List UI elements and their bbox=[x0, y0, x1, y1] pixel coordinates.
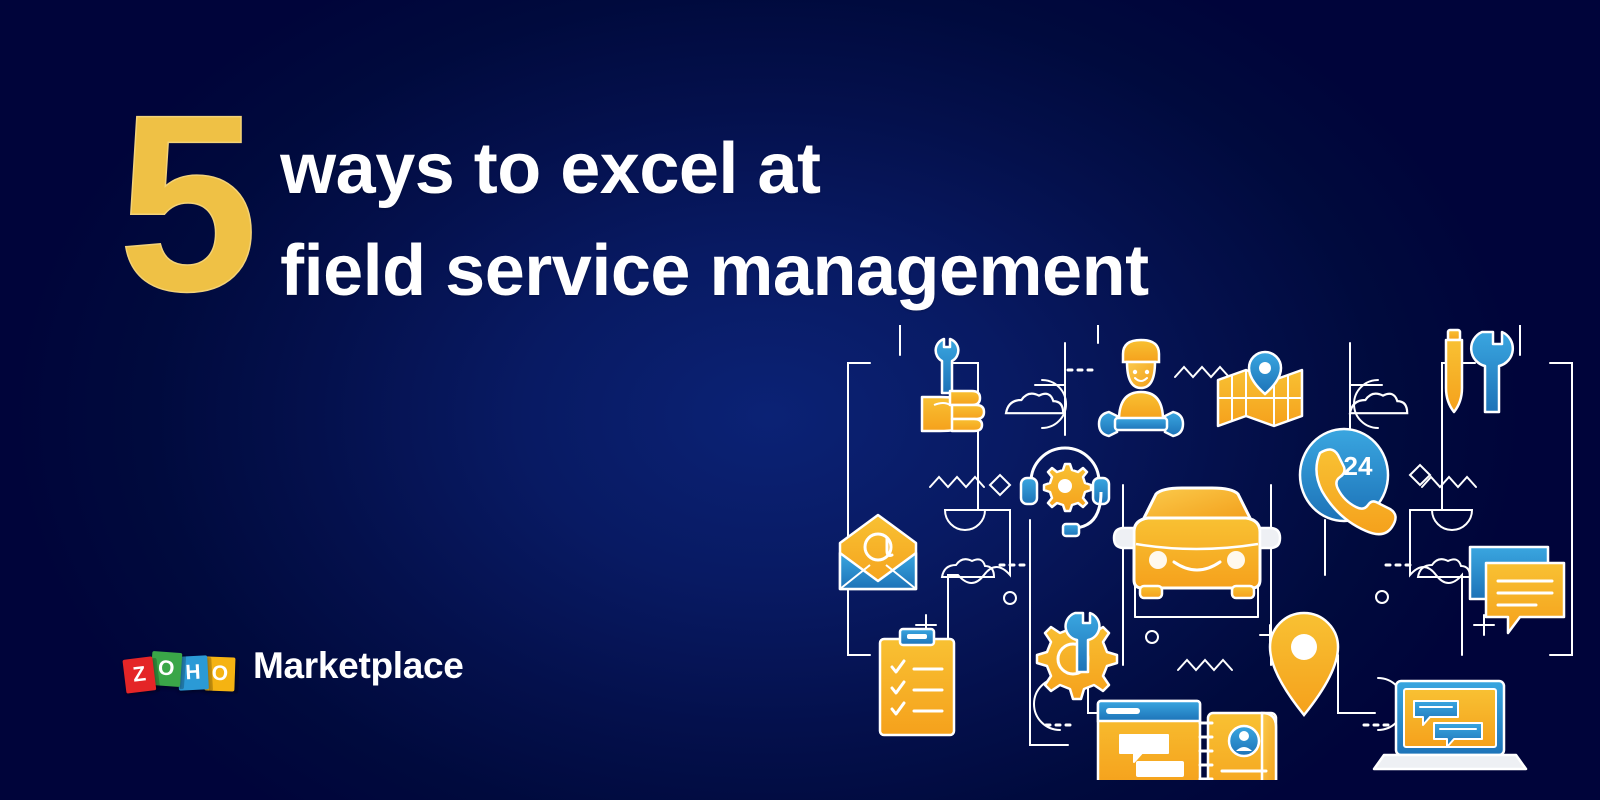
screwdriver-wrench-icon bbox=[1446, 330, 1513, 412]
browser-window-icon bbox=[1098, 701, 1200, 780]
support-badge-label: 24 bbox=[1344, 451, 1373, 481]
headline: 5 ways to excel at field service managem… bbox=[118, 100, 1318, 322]
map-with-pin-icon bbox=[1218, 352, 1302, 426]
headline-number: 5 bbox=[118, 106, 252, 303]
marketplace-wordmark: Marketplace bbox=[253, 647, 464, 684]
zoho-block-z: Z bbox=[122, 656, 156, 693]
headline-lines: ways to excel at field service managemen… bbox=[280, 100, 1148, 322]
location-pin-icon bbox=[1270, 613, 1338, 715]
hand-holding-wrench-icon bbox=[922, 339, 984, 431]
clipboard-checklist-icon bbox=[880, 629, 954, 735]
contact-card-icon bbox=[1200, 713, 1276, 780]
zoho-marketplace-logo[interactable]: Z O H O Marketplace bbox=[124, 641, 464, 689]
car-icon bbox=[1114, 488, 1280, 598]
technician-with-wrench-icon bbox=[1099, 340, 1183, 436]
headline-line-1: ways to excel at bbox=[280, 118, 1148, 220]
laptop-chat-icon bbox=[1374, 681, 1526, 769]
email-envelope-icon bbox=[840, 515, 916, 589]
headset-gear-icon bbox=[1021, 448, 1109, 536]
gear-wrench-icon bbox=[1037, 613, 1117, 699]
field-service-illustration: 24 bbox=[830, 325, 1590, 780]
zoho-logo-blocks: Z O H O bbox=[124, 641, 235, 689]
headline-line-2: field service management bbox=[280, 220, 1148, 322]
phone-24-support-icon: 24 bbox=[1300, 429, 1396, 534]
marketplace-banner: 5 ways to excel at field service managem… bbox=[0, 0, 1600, 800]
